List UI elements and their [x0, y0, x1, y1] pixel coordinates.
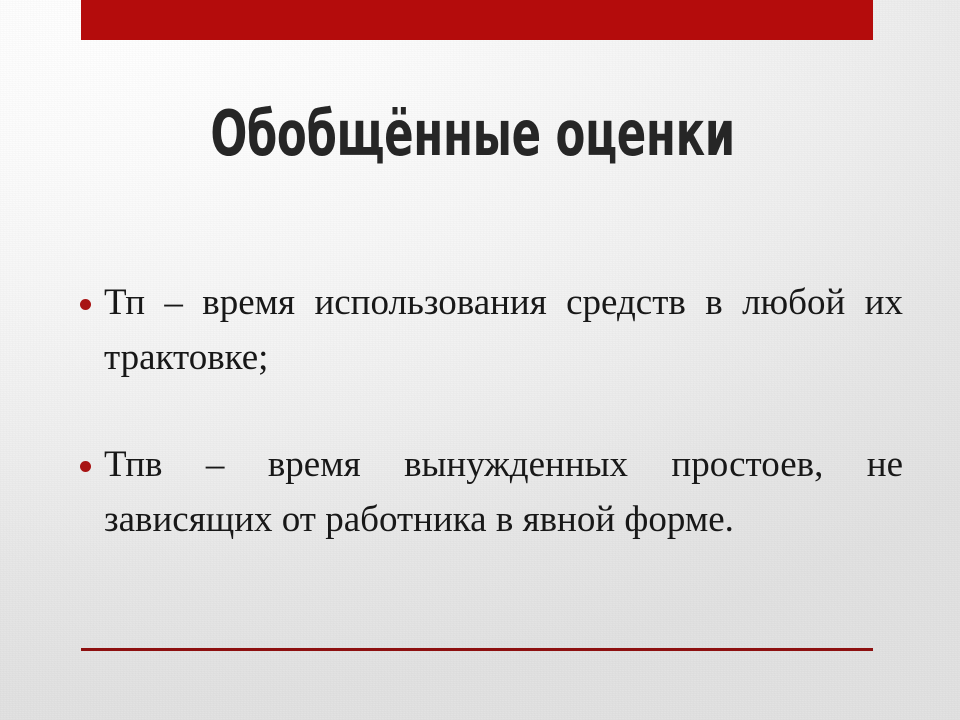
bullet-dot-icon [80, 461, 91, 472]
list-item-label: Тп – время использования средств в любой… [104, 275, 903, 385]
footer-divider [81, 648, 873, 651]
bullet-dot-icon [80, 299, 91, 310]
list-item-label: Тпв – время вынужденных простоев, не зав… [104, 437, 903, 547]
bullet-list: Тп – время использования средств в любой… [63, 238, 903, 584]
slide: Обобщённые оценки Тп – время использован… [0, 0, 960, 720]
top-accent-bar [81, 0, 873, 40]
list-item: Тп – время использования средств в любой… [63, 275, 903, 385]
page-title: Обобщённые оценки [104, 99, 841, 169]
list-item: Тпв – время вынужденных простоев, не зав… [63, 437, 903, 547]
